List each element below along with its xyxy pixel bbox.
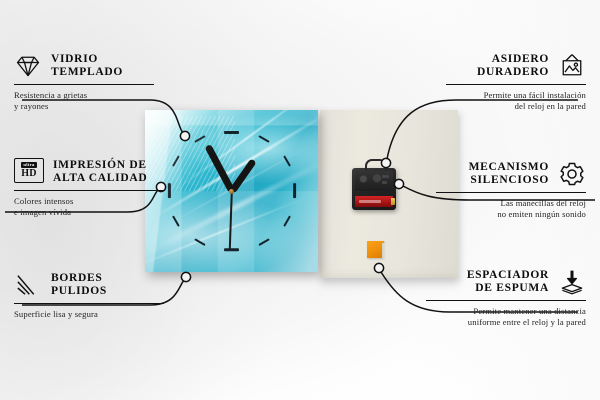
hd-badge-main-label: HD <box>21 169 36 179</box>
divider <box>426 300 586 301</box>
feature-title: BORDES PULIDOS <box>51 272 107 299</box>
feature-subtitle-line-1: Permite una fácil instalación <box>446 90 586 101</box>
feature-subtitle-line-1: Superficie lisa y segura <box>14 309 164 320</box>
foam-spacer-product <box>367 241 384 258</box>
feature-mecanismo-silencioso: MECANISMO SILENCIOSO Las manecillas del … <box>436 160 586 219</box>
feature-subtitle-line-1: Las manecillas del reloj <box>436 198 586 209</box>
feature-subtitle-line-1: Colores intensos <box>14 196 164 207</box>
polished-edges-icon <box>14 271 42 299</box>
node-bordes <box>181 272 190 281</box>
feature-subtitle-line-2: del reloj en la pared <box>446 101 586 112</box>
mechanism-housing <box>355 171 393 191</box>
feature-subtitle-line-1: Resistencia a grietas <box>14 90 154 101</box>
feature-title: ASIDERO DURADERO <box>477 53 549 80</box>
divider <box>14 303 164 304</box>
clock-tick <box>224 248 239 251</box>
diamond-icon <box>14 52 42 80</box>
gear-icon <box>558 160 586 188</box>
feature-subtitle-line-1: Permite mantener una distancia <box>426 306 586 317</box>
feature-espaciador-de-espuma: ESPACIADOR DE ESPUMA Permite mantener un… <box>426 268 586 327</box>
clock-center-cap <box>229 189 234 194</box>
clock-tick <box>224 131 239 134</box>
feature-subtitle-line-2: y rayones <box>14 101 154 112</box>
feature-title: IMPRESIÓN DE ALTA CALIDAD <box>53 159 147 186</box>
feature-asidero-duradero: ASIDERO DURADERO Permite una fácil insta… <box>446 52 586 111</box>
feature-title: MECANISMO SILENCIOSO <box>469 161 549 188</box>
feature-vidrio-templado: VIDRIO TEMPLADO Resistencia a grietas y … <box>14 52 154 111</box>
divider <box>446 84 586 85</box>
feature-title: ESPACIADOR DE ESPUMA <box>467 269 549 296</box>
infographic-stage: VIDRIO TEMPLADO Resistencia a grietas y … <box>0 0 600 400</box>
clock-mechanism <box>352 168 396 210</box>
feature-subtitle-line-2: uniforme entre el reloj y la pared <box>426 317 586 328</box>
foam-spacer-icon <box>558 268 586 296</box>
feature-title: VIDRIO TEMPLADO <box>51 53 123 80</box>
feature-bordes-pulidos: BORDES PULIDOS Superficie lisa y segura <box>14 271 164 320</box>
divider <box>14 190 164 191</box>
divider <box>436 192 586 193</box>
wall-clock-product <box>145 110 318 272</box>
hanging-frame-icon <box>558 52 586 80</box>
clock-tick <box>167 183 170 198</box>
hd-badge-top-label: ultra <box>21 162 36 168</box>
feature-impresion-alta-calidad: ultra HD IMPRESIÓN DE ALTA CALIDAD Color… <box>14 158 164 217</box>
clock-tick <box>292 183 295 198</box>
divider <box>14 84 154 85</box>
mechanism-battery <box>355 196 393 207</box>
ultra-hd-icon: ultra HD <box>14 158 44 186</box>
feature-subtitle-line-2: no emiten ningún sonido <box>436 209 586 220</box>
feature-subtitle-line-2: e imagen vívida <box>14 207 164 218</box>
